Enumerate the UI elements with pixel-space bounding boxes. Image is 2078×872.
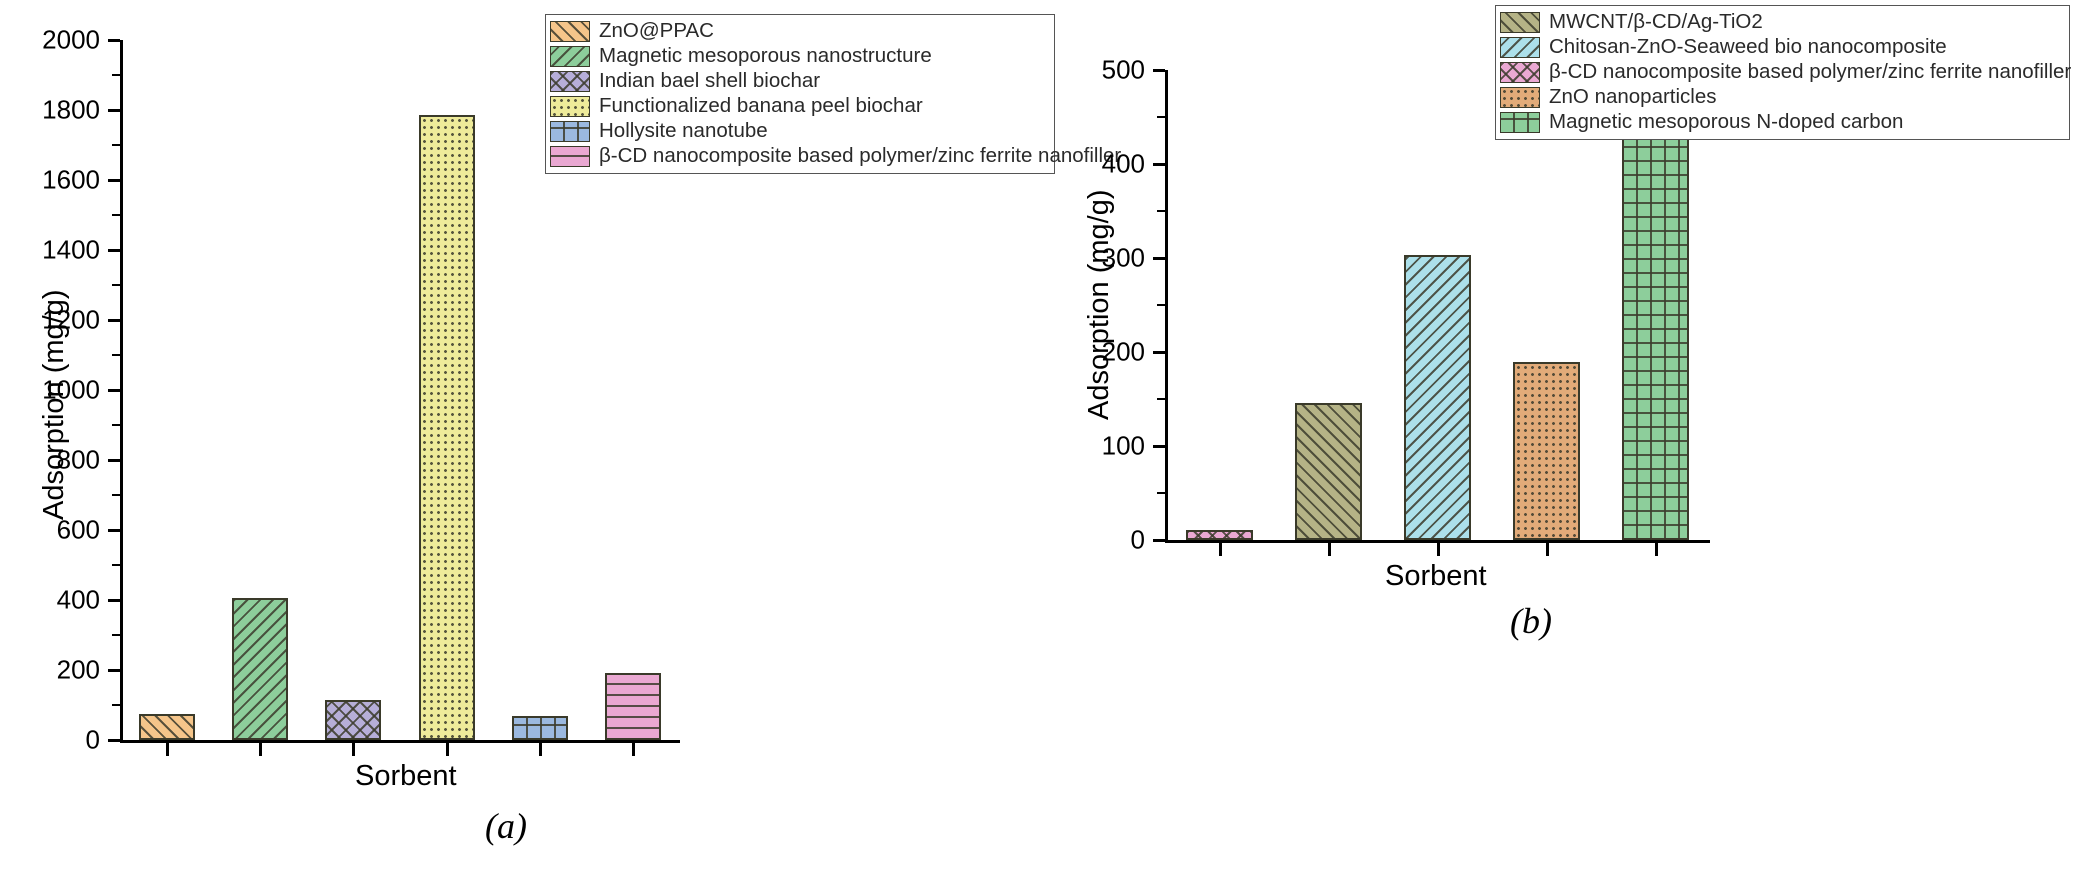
bar — [1295, 403, 1363, 540]
y-tick-minor — [1157, 398, 1165, 400]
legend-swatch-icon — [550, 96, 590, 117]
y-tick-minor — [1157, 304, 1165, 306]
legend-swatch-icon — [1500, 37, 1540, 58]
y-tick-major — [108, 179, 120, 182]
bar — [139, 714, 195, 740]
bar — [419, 115, 475, 740]
legend-item[interactable]: MWCNT/β-CD/Ag-TiO2 — [1500, 10, 2063, 35]
y-tick-label: 300 — [1015, 243, 1145, 274]
x-axis-title-b: Sorbent — [1385, 560, 1487, 593]
y-tick-label: 400 — [0, 585, 100, 616]
y-tick-minor — [1157, 116, 1165, 118]
legend-label: Magnetic mesoporous N-doped carbon — [1549, 112, 1903, 133]
x-tick — [1219, 542, 1222, 556]
y-tick-minor — [112, 704, 120, 706]
x-axis-line — [120, 740, 680, 743]
y-tick-label: 100 — [1015, 431, 1145, 462]
y-tick-major — [108, 529, 120, 532]
y-tick-major — [108, 459, 120, 462]
legend-label: MWCNT/β-CD/Ag-TiO2 — [1549, 12, 1763, 33]
x-tick — [1655, 542, 1658, 556]
y-tick-label: 500 — [1015, 55, 1145, 86]
panel-caption-b: (b) — [1510, 600, 1552, 642]
bar — [232, 598, 288, 740]
legend-swatch-icon — [550, 121, 590, 142]
y-tick-major — [108, 739, 120, 742]
y-tick-label: 200 — [1015, 337, 1145, 368]
y-axis-title-a: Adsorption (mg/g) — [38, 290, 71, 521]
y-tick-minor — [112, 634, 120, 636]
bar — [605, 673, 661, 740]
y-axis-line — [1165, 70, 1168, 542]
y-tick-label: 200 — [0, 655, 100, 686]
y-tick-minor — [112, 564, 120, 566]
legend-item[interactable]: Magnetic mesoporous N-doped carbon — [1500, 110, 2063, 135]
legend-item[interactable]: ZnO@PPAC — [550, 19, 1048, 44]
y-tick-major — [108, 319, 120, 322]
y-tick-major — [108, 249, 120, 252]
y-tick-minor — [112, 354, 120, 356]
y-tick-major — [108, 109, 120, 112]
y-tick-minor — [112, 214, 120, 216]
x-tick — [446, 742, 449, 756]
chart-panel-a: 0200400600800100012001400160018002000 Ad… — [0, 0, 1040, 872]
x-axis-title-a: Sorbent — [355, 760, 457, 793]
legend-swatch-icon — [550, 21, 590, 42]
y-tick-minor — [112, 74, 120, 76]
bar — [1513, 362, 1581, 540]
y-tick-major — [108, 39, 120, 42]
y-tick-label: 1400 — [0, 235, 100, 266]
y-tick-major — [1153, 257, 1165, 260]
y-tick-major — [1153, 351, 1165, 354]
x-tick — [1437, 542, 1440, 556]
x-tick — [1546, 542, 1549, 556]
legend-swatch-icon — [1500, 87, 1540, 108]
y-tick-label: 1800 — [0, 95, 100, 126]
legend-label: ZnO nanoparticles — [1549, 87, 1717, 108]
legend-item[interactable]: β-CD nanocomposite based polymer/zinc fe… — [1500, 60, 2063, 85]
legend-item[interactable]: Chitosan-ZnO-Seaweed bio nanocomposite — [1500, 35, 2063, 60]
legend-label: Chitosan-ZnO-Seaweed bio nanocomposite — [1549, 37, 1947, 58]
legend-a: ZnO@PPACMagnetic mesoporous nanostructur… — [545, 14, 1055, 174]
y-tick-major — [1153, 539, 1165, 542]
legend-item[interactable]: ZnO nanoparticles — [1500, 85, 2063, 110]
y-tick-label: 1600 — [0, 165, 100, 196]
bar — [512, 716, 568, 740]
x-tick — [539, 742, 542, 756]
y-tick-minor — [112, 144, 120, 146]
x-tick — [1328, 542, 1331, 556]
y-tick-major — [108, 389, 120, 392]
legend-item[interactable]: β-CD nanocomposite based polymer/zinc fe… — [550, 144, 1048, 169]
legend-item[interactable]: Hollysite nanotube — [550, 119, 1048, 144]
y-tick-major — [1153, 163, 1165, 166]
y-tick-label: 2000 — [0, 25, 100, 56]
legend-swatch-icon — [1500, 112, 1540, 133]
legend-swatch-icon — [550, 46, 590, 67]
legend-swatch-icon — [550, 71, 590, 92]
y-tick-minor — [112, 494, 120, 496]
legend-b: MWCNT/β-CD/Ag-TiO2Chitosan-ZnO-Seaweed b… — [1495, 5, 2070, 140]
y-tick-label: 400 — [1015, 149, 1145, 180]
y-axis-title-b: Adsorption (mg/g) — [1083, 190, 1116, 421]
legend-label: ZnO@PPAC — [599, 21, 714, 42]
bar — [325, 700, 381, 740]
y-tick-major — [108, 599, 120, 602]
legend-item[interactable]: Functionalized banana peel biochar — [550, 94, 1048, 119]
legend-item[interactable]: Indian bael shell biochar — [550, 69, 1048, 94]
legend-label: Hollysite nanotube — [599, 121, 768, 142]
legend-label: Functionalized banana peel biochar — [599, 96, 923, 117]
bar — [1186, 530, 1254, 540]
y-tick-label: 0 — [1015, 525, 1145, 556]
chart-panel-b: 0100200300400500 Adsorption (mg/g) Sorbe… — [1040, 0, 2078, 872]
bar — [1404, 255, 1472, 540]
x-tick — [166, 742, 169, 756]
legend-item[interactable]: Magnetic mesoporous nanostructure — [550, 44, 1048, 69]
legend-swatch-icon — [550, 146, 590, 167]
legend-swatch-icon — [1500, 62, 1540, 83]
legend-swatch-icon — [1500, 12, 1540, 33]
plot-area-b: 0100200300400500 — [1165, 70, 1710, 540]
panel-caption-a: (a) — [485, 805, 527, 847]
legend-label: Magnetic mesoporous nanostructure — [599, 46, 932, 67]
legend-label: β-CD nanocomposite based polymer/zinc fe… — [1549, 62, 2071, 83]
y-tick-minor — [1157, 492, 1165, 494]
y-tick-major — [108, 669, 120, 672]
y-axis-line — [120, 40, 123, 742]
y-tick-minor — [112, 284, 120, 286]
figure-container: 0200400600800100012001400160018002000 Ad… — [0, 0, 2078, 872]
bar — [1622, 131, 1690, 540]
y-tick-major — [1153, 69, 1165, 72]
legend-label: Indian bael shell biochar — [599, 71, 820, 92]
y-tick-label: 0 — [0, 725, 100, 756]
y-tick-minor — [112, 424, 120, 426]
x-tick — [352, 742, 355, 756]
y-tick-minor — [1157, 210, 1165, 212]
x-tick — [632, 742, 635, 756]
y-tick-major — [1153, 445, 1165, 448]
x-tick — [259, 742, 262, 756]
